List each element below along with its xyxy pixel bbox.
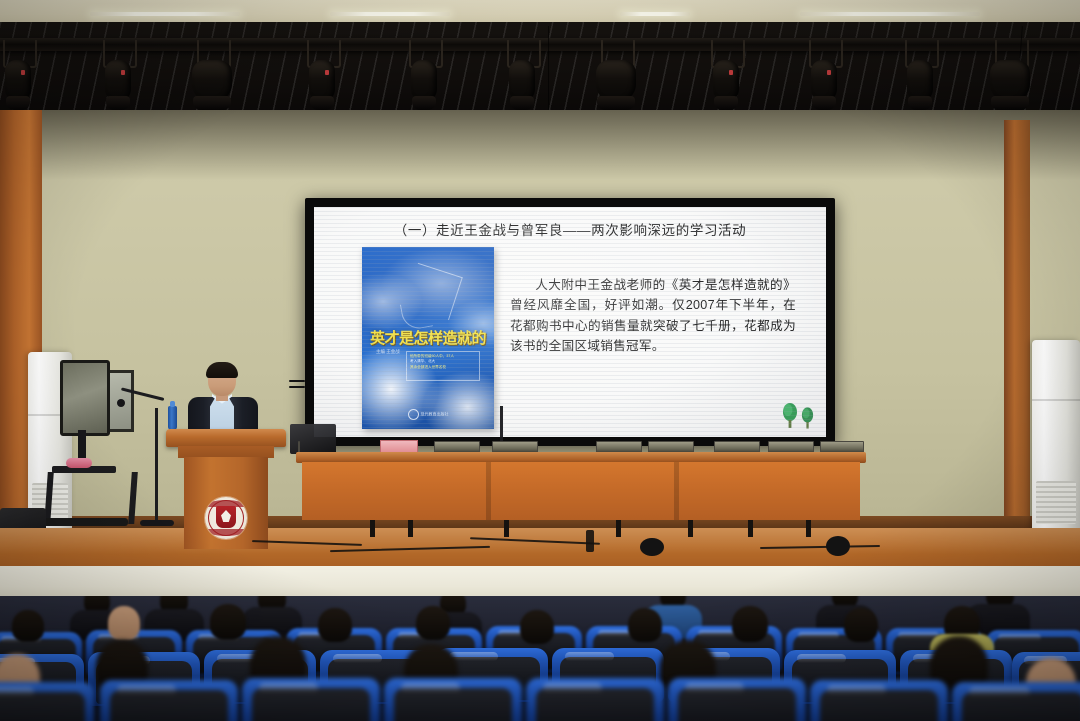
book-title: 英才是怎样造就的 (366, 327, 490, 348)
slide-surface: （一）走近王金战与曾军良——两次影响深远的学习活动 英才是怎样造就的 主编 王金… (314, 207, 826, 437)
table-leg (408, 520, 413, 537)
ceiling-light-strip (620, 12, 690, 16)
microphone-stand-base (140, 520, 174, 526)
audience-head (844, 608, 878, 642)
auditorium-seat (100, 680, 238, 721)
monitor-screen (60, 360, 110, 436)
audience-head (416, 606, 450, 640)
projection-screen: （一）走近王金战与曾军良——两次影响深远的学习活动 英才是怎样造就的 主编 王金… (305, 198, 835, 446)
audience-head (520, 610, 554, 644)
tree-icon (801, 407, 814, 429)
book-blurb: 他所带的班级50人中，37人 考入清华、北大 其余全部进入世界名校 (406, 351, 480, 381)
slide-tree-decoration (782, 403, 814, 429)
book-author: 主编 王金战 (376, 349, 400, 355)
microphone-head-icon (117, 399, 125, 407)
auditorium-seat (242, 678, 380, 721)
table-leg (806, 520, 811, 537)
water-bottle (168, 406, 177, 430)
microphone-stand-pole (155, 408, 158, 522)
audience-head (318, 608, 352, 642)
table-leg (616, 520, 621, 537)
auditorium-seat (810, 680, 948, 721)
auditorium-seat (526, 678, 664, 721)
book-publisher: 现代教育出版社 (362, 409, 494, 420)
audience-head (108, 606, 140, 640)
monitor-stand-legs (44, 472, 138, 524)
table-leg (688, 520, 693, 537)
pink-object-on-stand (66, 458, 92, 468)
auditorium-seat (668, 678, 806, 721)
book-blurb-line: 其余全部进入世界名校 (410, 365, 476, 370)
audience-head (732, 606, 768, 642)
publisher-name: 现代教育出版社 (421, 412, 449, 417)
auditorium-presentation-photo: （一）走近王金战与曾军良——两次影响深远的学习活动 英才是怎样造就的 主编 王金… (0, 0, 1080, 721)
screen-side-marks (289, 380, 305, 389)
podium-top (166, 429, 286, 447)
air-conditioner-unit-right (1032, 340, 1080, 536)
stage-front-wall (0, 566, 1080, 600)
table-leg (504, 520, 509, 537)
audience-head (210, 604, 246, 640)
audience-head (628, 608, 662, 642)
table-panel-divider (486, 462, 491, 520)
ceiling-light-strip (330, 12, 450, 16)
ceiling-light-strip (800, 12, 980, 16)
podium-body (184, 457, 268, 549)
slide-title: （一）走近王金战与曾军良——两次影响深远的学习活动 (314, 219, 826, 239)
floor-cable (586, 530, 594, 552)
presenter-person (182, 364, 264, 436)
school-crest-emblem-icon (205, 497, 247, 539)
wall-shadow (0, 110, 1080, 180)
floor-speaker-monitor (826, 536, 850, 556)
podium (174, 429, 278, 549)
conference-table (296, 452, 866, 538)
auditorium-seat (384, 678, 522, 721)
auditorium-seat (0, 682, 94, 721)
tree-icon (782, 403, 798, 429)
slide-paragraph: 人大附中王金战老师的《英才是怎样造就的》曾经风靡全国，好评如潮。仅2007年下半… (510, 275, 796, 357)
presenter-hair (206, 362, 238, 378)
table-front-panel (302, 462, 860, 520)
monitor-stand-base (42, 518, 128, 526)
equipment-box (290, 424, 336, 454)
audience-head (12, 610, 44, 642)
auditorium-seat (952, 682, 1080, 721)
table-leg (370, 520, 375, 537)
table-leg (748, 520, 753, 537)
table-panel-divider (674, 462, 679, 520)
wood-pillar-right (1004, 120, 1030, 540)
ceiling-light-strip (90, 12, 240, 16)
floor-speaker-monitor (640, 538, 664, 556)
publisher-logo-icon (408, 409, 419, 420)
audience-area (0, 596, 1080, 721)
book-cover-image: 英才是怎样造就的 主编 王金战 他所带的班级50人中，37人 考入清华、北大 其… (362, 247, 494, 429)
